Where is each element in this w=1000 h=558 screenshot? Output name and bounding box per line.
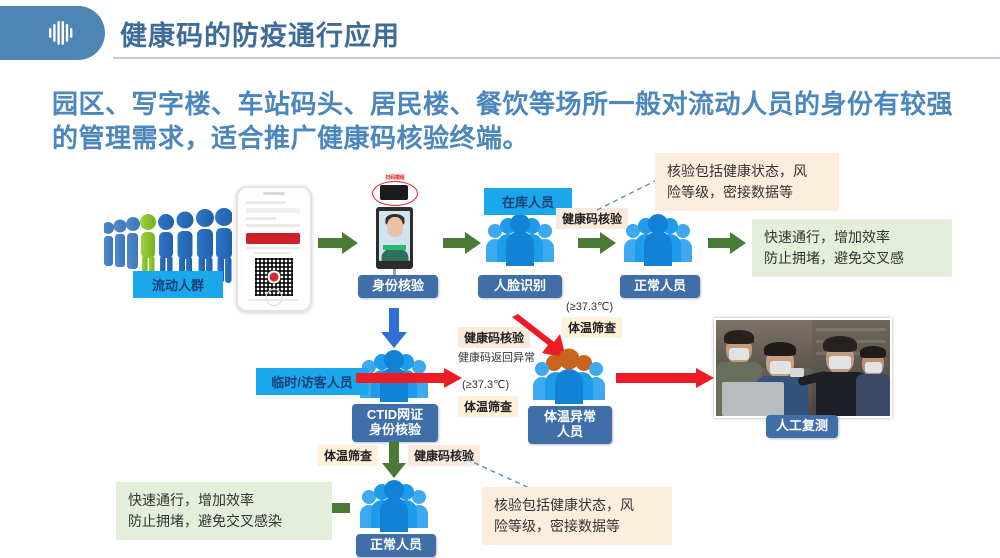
badge-crowd: 流动人群 <box>133 271 223 298</box>
callout-fast-pass-bottom: 快速通行，增加效率 防止拥堵，避免交叉感染 <box>116 482 332 540</box>
node-normal-person-bottom: 正常人员 <box>356 534 436 557</box>
phone-speaker-icon <box>263 192 285 195</box>
photo-laptop <box>722 382 784 416</box>
kiosk-screen <box>379 211 410 261</box>
slide: 健康码的防疫通行应用 园区、写字楼、车站码头、居民楼、餐饮等场所一般对流动人员的… <box>0 0 1000 558</box>
callout-verify-scope-top: 核验包括健康状态，风 险等级，密接数据等 <box>655 153 839 211</box>
node-normal-person-top: 正常人员 <box>620 275 700 298</box>
header-divider <box>113 57 1000 59</box>
people-group-normal-bottom-icon <box>358 478 430 539</box>
arrow-abnormal-to-recheck <box>616 368 714 393</box>
sound-wave-logo-icon <box>40 12 82 54</box>
note-temp-threshold-lower: (≥37.3℃) <box>462 378 509 391</box>
arrow-crowd-to-kiosk <box>318 232 358 259</box>
arrow-ctid-to-abnormal <box>356 368 462 393</box>
page-title: 健康码的防疫通行应用 <box>120 14 400 53</box>
arrow-normal-to-fastpass <box>708 232 746 259</box>
tag-temp-screen-bottom: 体温筛查 <box>318 445 378 466</box>
node-abnormal-line-2: 人员 <box>557 424 583 439</box>
callout-fast-pass-top: 快速通行，增加效率 防止拥堵，避免交叉感 <box>752 219 952 277</box>
arrow-identity-to-ctid <box>381 308 407 353</box>
people-group-face-recognition-icon <box>484 212 556 273</box>
callout-verify-scope-bottom: 核验包括健康状态，风 险等级，密接数据等 <box>482 487 672 545</box>
health-code-phone-mockup <box>236 186 312 312</box>
arrow-to-normal-bottom <box>382 442 406 483</box>
node-ctid-verify: CTID网证 身份核验 <box>352 404 438 442</box>
phone-screen <box>242 199 304 295</box>
node-ctid-line-2: 身份核验 <box>369 422 421 437</box>
kiosk-body <box>376 207 413 269</box>
node-abnormal-line-1: 体温异常 <box>544 409 596 424</box>
people-group-normal-top-icon <box>622 212 694 273</box>
arrow-face-to-normal <box>578 232 616 259</box>
arrow-kiosk-to-face <box>443 232 481 259</box>
node-face-recognition: 人脸识别 <box>478 275 562 298</box>
people-group-abnormal-temp-icon <box>530 348 608 411</box>
tag-temp-screen-lower: 体温筛查 <box>458 396 518 417</box>
node-abnormal-temp-person: 体温异常 人员 <box>528 406 612 444</box>
node-manual-recheck: 人工复测 <box>766 415 838 438</box>
badge-visitor: 临时/访客人员 <box>256 368 368 395</box>
phone-home-button <box>266 289 283 306</box>
node-identity-verify: 身份核验 <box>358 275 438 298</box>
subtitle-block: 园区、写字楼、车站码头、居民楼、餐饮等场所一般对流动人员的身份有较强 的管理需求… <box>52 88 962 156</box>
phone-alert-banner <box>246 233 300 244</box>
scan-module-highlight-ring <box>372 181 418 206</box>
manual-temperature-check-photo <box>714 318 892 418</box>
subtitle-line-1: 园区、写字楼、车站码头、居民楼、餐饮等场所一般对流动人员的身份有较强 <box>52 88 962 122</box>
node-ctid-line-1: CTID网证 <box>367 407 423 422</box>
scan-module-label: 扫码模组 <box>375 174 415 181</box>
subtitle-line-2: 的管理需求，适合推广健康码核验终端。 <box>52 122 962 156</box>
